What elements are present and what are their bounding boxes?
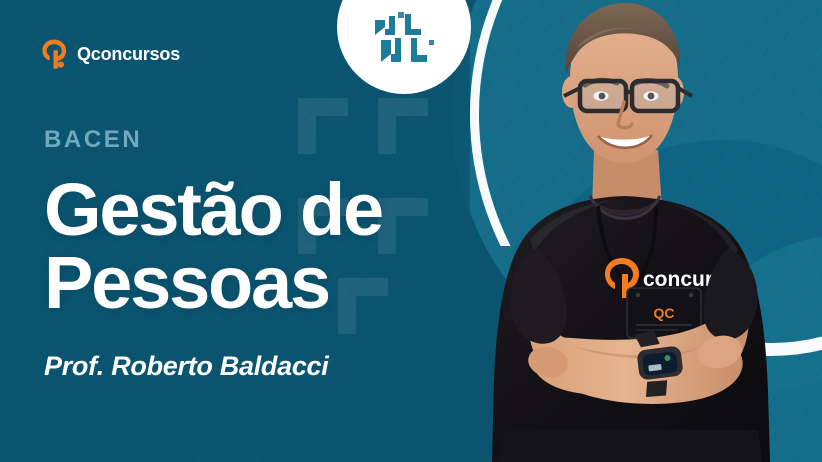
headline-block: BACEN Gestão de Pessoas Prof. Roberto Ba… <box>44 128 514 380</box>
qconcursos-logo[interactable]: Qconcursos <box>41 38 180 70</box>
exam-label: BACEN <box>44 128 514 152</box>
qconcursos-q-icon <box>41 38 68 70</box>
page-title: Gestão de Pessoas <box>44 174 514 319</box>
presenter-name: Prof. Roberto Baldacci <box>44 353 514 380</box>
title-line-2: Pessoas <box>44 247 514 320</box>
bacen-logo-icon <box>371 10 437 68</box>
qconcursos-wordmark: Qconcursos <box>77 45 180 63</box>
badge-text: QC <box>654 305 675 321</box>
title-line-1: Gestão de <box>44 174 514 247</box>
course-thumbnail: Qconcursos BACEN Gestão de Pessoas Prof.… <box>0 0 822 462</box>
